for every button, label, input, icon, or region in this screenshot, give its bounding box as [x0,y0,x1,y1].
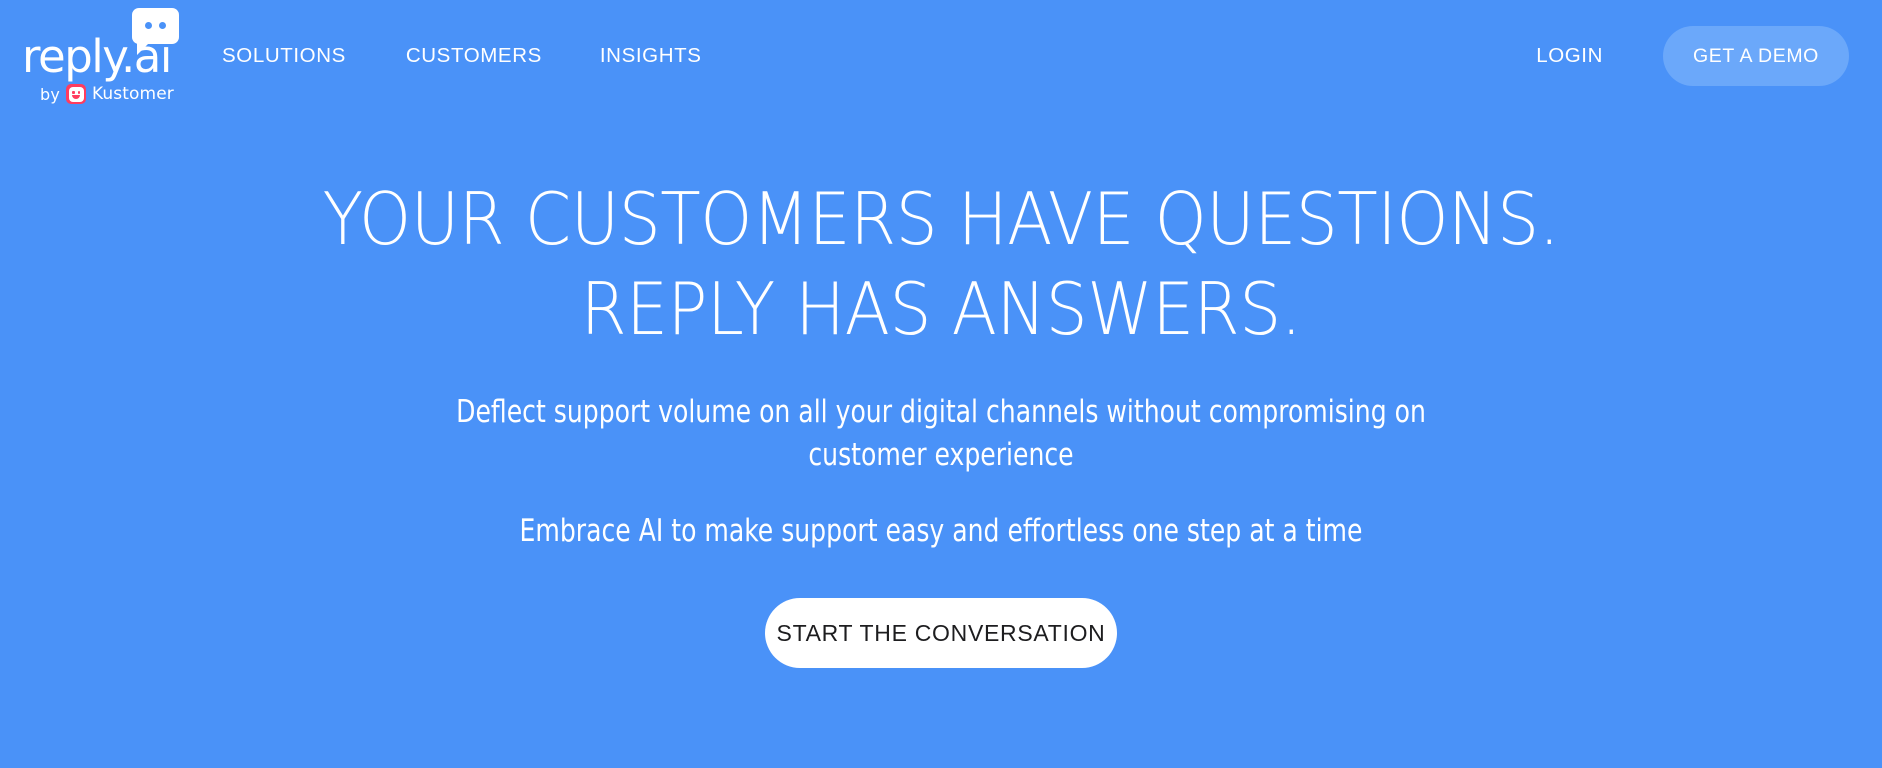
brand-logo[interactable]: reply.ai by Kustomer [22,8,212,112]
hero-section: YOUR CUSTOMERS HAVE QUESTIONS. REPLY HAS… [0,116,1882,768]
brand-wordmark: reply.ai [22,34,171,79]
hero-headline: YOUR CUSTOMERS HAVE QUESTIONS. REPLY HAS… [75,116,1806,354]
start-the-conversation-button[interactable]: START THE CONVERSATION [765,598,1117,668]
primary-navigation: SOLUTIONS CUSTOMERS INSIGHTS [222,43,702,69]
nav-item-solutions[interactable]: SOLUTIONS [222,43,346,69]
get-a-demo-button[interactable]: GET A DEMO [1663,26,1849,86]
hero-cta-container: START THE CONVERSATION [0,551,1882,668]
nav-item-customers[interactable]: CUSTOMERS [406,43,542,69]
bubble-dot-left [145,22,152,29]
kustomer-eye-right [78,91,81,95]
hero-subheading: Deflect support volume on all your digit… [437,354,1445,477]
kustomer-face [69,87,84,102]
site-header: reply.ai by Kustomer SOLUTIONS CUSTOMERS… [0,0,1882,116]
nav-item-insights[interactable]: INSIGHTS [600,43,702,69]
kustomer-smiley-icon [66,84,86,104]
brand-byline: by Kustomer [40,84,174,104]
kustomer-mouth [72,95,80,99]
hero-headline-line-1: YOUR CUSTOMERS HAVE QUESTIONS. [75,174,1806,264]
byline-prefix: by [40,85,60,104]
hero-headline-line-2: REPLY HAS ANSWERS. [75,264,1806,354]
byline-name: Kustomer [92,84,174,104]
header-actions: LOGIN GET A DEMO [1536,26,1849,86]
login-link[interactable]: LOGIN [1536,44,1603,68]
kustomer-eye-left [72,91,75,95]
hero-tagline: Embrace AI to make support easy and effo… [94,477,1788,551]
bubble-dot-right [159,22,166,29]
